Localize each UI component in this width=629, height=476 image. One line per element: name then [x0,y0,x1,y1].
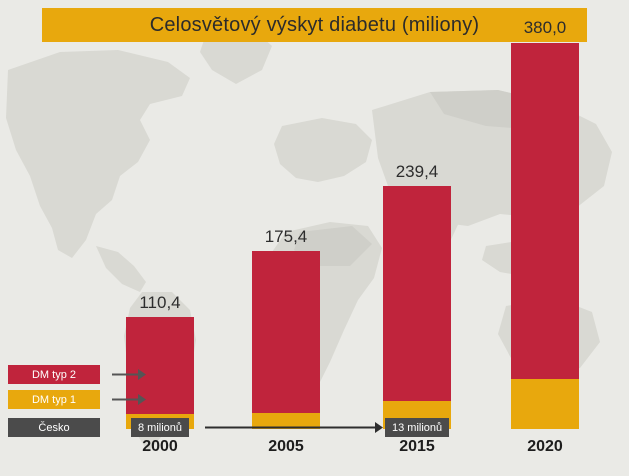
legend-label-type1: DM typ 1 [32,394,76,406]
callout-czech-2000-label: 8 milionů [138,422,182,434]
bar-group-2005: 175,4 [252,251,320,429]
legend-arrow-type1-icon [112,390,146,409]
legend-label-type2: DM typ 2 [32,369,76,381]
legend-item-type1: DM typ 1 [8,390,100,409]
bar-value-2015: 239,4 [383,162,451,182]
bar-label-2020: 2020 [511,438,579,456]
callout-czech-2015-label: 13 milionů [392,422,442,434]
callout-czech-2015: 13 milionů [385,418,449,437]
bar-segment-type2-2005 [252,251,320,413]
bar-group-2020: 380,0 [511,43,579,429]
bar-label-2005: 2005 [252,438,320,456]
legend-item-czech: Česko [8,418,100,437]
legend-czech-row: Česko [8,418,100,437]
bar-segment-type2-2015 [383,186,451,401]
callout-czech-2000: 8 milionů [131,418,189,437]
bar-value-2005: 175,4 [252,227,320,247]
bar-value-2000: 110,4 [126,293,194,313]
legend-item-type2: DM typ 2 [8,365,100,384]
bar-group-2015: 239,4 [383,186,451,429]
legend-label-czech: Česko [38,422,69,434]
bar-label-2015: 2015 [383,438,451,456]
bar-segment-type2-2020 [511,43,579,379]
legend-arrow-type2-icon [112,365,146,384]
bar-value-2020: 380,0 [511,18,579,38]
chart-canvas: Celosvětový výskyt diabetu (miliony) 110… [0,0,629,476]
legend: DM typ 2 [8,365,100,384]
legend-type1-row: DM typ 1 [8,390,100,409]
bar-label-2000: 2000 [126,438,194,456]
callout-connector-arrow-icon [205,418,383,437]
bar-segment-type1-2020 [511,379,579,429]
